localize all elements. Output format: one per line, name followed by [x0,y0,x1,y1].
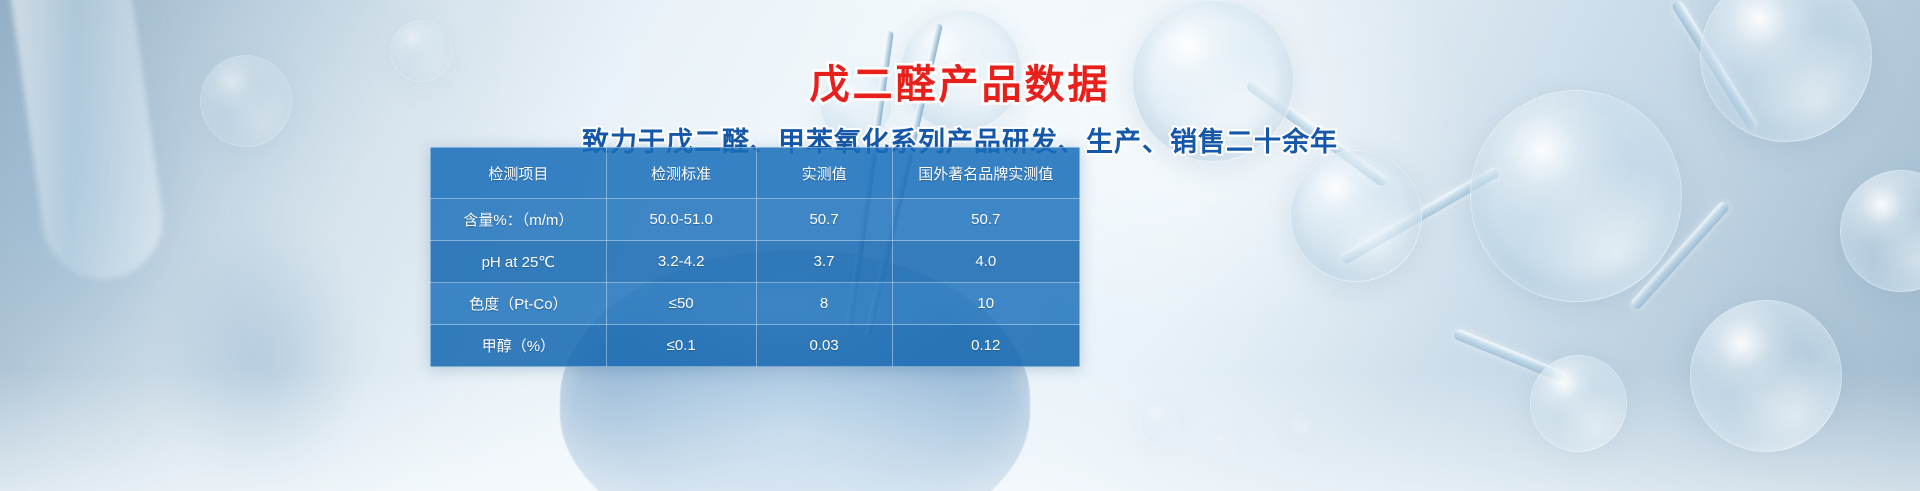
bubble [1290,415,1310,435]
product-data-table: 检测项目 检测标准 实测值 国外著名品牌实测值 含量%：（m/m） 50.0-5… [430,147,1080,367]
cell-item: pH at 25℃ [431,241,607,283]
cell-standard: 50.0-51.0 [606,199,756,241]
column-header-item: 检测项目 [431,148,607,199]
cell-foreign-brand: 4.0 [892,241,1079,283]
cell-foreign-brand: 10 [892,283,1079,325]
cell-item: 色度（Pt-Co） [431,283,607,325]
table-row: pH at 25℃ 3.2-4.2 3.7 4.0 [431,241,1080,283]
page-title: 戊二醛产品数据 [0,0,1920,110]
table-header: 检测项目 检测标准 实测值 国外著名品牌实测值 [431,148,1080,199]
molecule-bond [1339,166,1500,266]
cell-foreign-brand: 50.7 [892,199,1079,241]
bubble [1140,400,1186,446]
molecule-atom [1290,150,1422,282]
cell-foreign-brand: 0.12 [892,325,1079,367]
cell-measured: 8 [756,283,892,325]
banner-headings: 戊二醛产品数据 致力于戊二醛、甲苯氧化系列产品研发、生产、销售二十余年 [0,0,1920,159]
product-data-banner: 戊二醛产品数据 致力于戊二醛、甲苯氧化系列产品研发、生产、销售二十余年 检测项目… [0,0,1920,491]
table-row: 色度（Pt-Co） ≤50 8 10 [431,283,1080,325]
molecule-atom [1690,300,1842,452]
cell-measured: 3.7 [756,241,892,283]
molecule-atom [1840,170,1920,292]
cell-measured: 0.03 [756,325,892,367]
cell-measured: 50.7 [756,199,892,241]
molecule-bond [1629,200,1731,311]
bottom-gradient [0,371,1920,491]
cell-standard: 3.2-4.2 [606,241,756,283]
cell-standard: ≤50 [606,283,756,325]
table-header-row: 检测项目 检测标准 实测值 国外著名品牌实测值 [431,148,1080,199]
column-header-standard: 检测标准 [606,148,756,199]
column-header-foreign-brand: 国外著名品牌实测值 [892,148,1079,199]
cell-item: 甲醇（%） [431,325,607,367]
molecule-bond [1452,328,1567,383]
cell-item: 含量%：（m/m） [431,199,607,241]
bubble [1210,430,1238,458]
table-row: 甲醇（%） ≤0.1 0.03 0.12 [431,325,1080,367]
column-header-measured: 实测值 [756,148,892,199]
table-row: 含量%：（m/m） 50.0-51.0 50.7 50.7 [431,199,1080,241]
molecule-atom [1530,355,1627,452]
table-body: 含量%：（m/m） 50.0-51.0 50.7 50.7 pH at 25℃ … [431,199,1080,367]
cell-standard: ≤0.1 [606,325,756,367]
